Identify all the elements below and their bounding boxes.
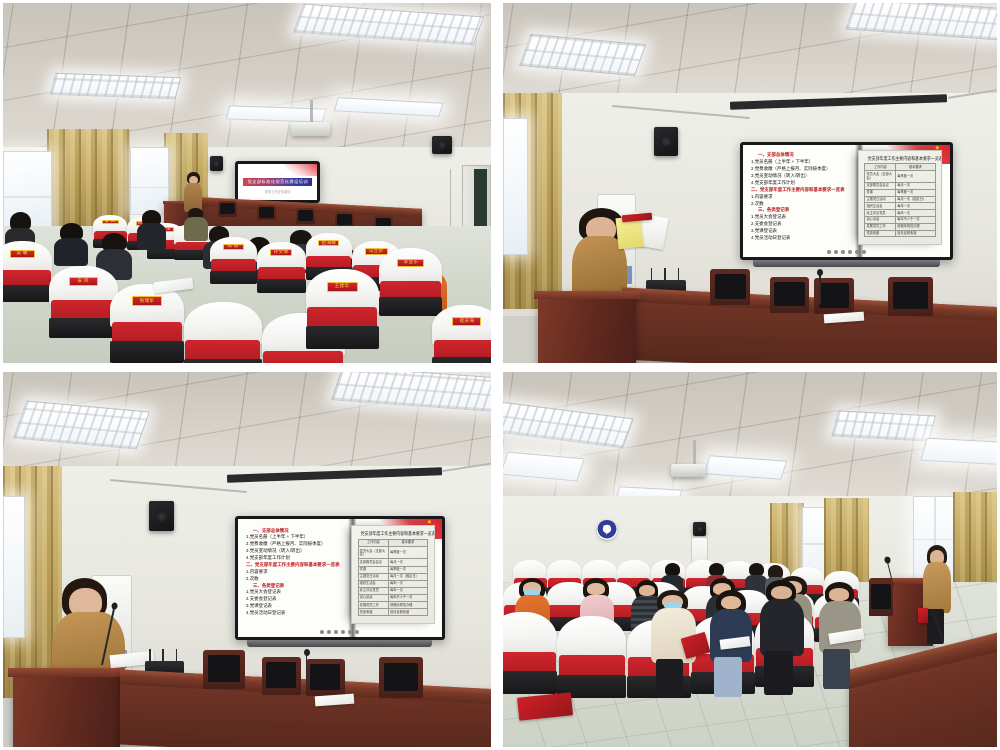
slide-line: 三、各类登记表	[246, 583, 345, 589]
seat-nametag: 安 风	[69, 277, 98, 286]
projector-mount-arm	[693, 440, 696, 466]
ceiling-projector	[671, 464, 706, 478]
interactive-display[interactable]: 一、支部总体情况 1.党员名册（上半年 + 下半年） 2.党费收缴（严格上报月、…	[740, 142, 952, 261]
seat-nametag: 王建华	[327, 282, 358, 292]
collage-panel-bottom-left: 一、支部总体情况 1.党员名册（上半年 + 下半年） 2.党费收缴（严格上报月、…	[0, 369, 497, 750]
slide-document-image: 党支部年度工作主要内容和基本要求一览表 工作内容 基本要求 党员大会（支部大会）…	[351, 525, 435, 624]
conference-chair	[888, 277, 932, 317]
slide-line: 一、支部总体情况	[246, 528, 345, 534]
auditorium-seat: 孙文博	[257, 242, 306, 292]
projector-mount-arm	[310, 100, 313, 122]
ceiling-projector	[291, 122, 330, 136]
slide-line: 二、党支部年度工作主要内容和基本要求一览表	[246, 562, 345, 568]
seat-nametag: 李亚东	[397, 259, 424, 267]
slide-line: 3.党课登记表	[246, 603, 345, 609]
toolbar-icon[interactable]	[341, 630, 345, 634]
seat-nametag: 张瑞军	[132, 296, 163, 306]
conference-chair	[770, 277, 810, 313]
conference-chair	[379, 657, 423, 698]
slide-line: 2.支委会登记表	[246, 596, 345, 602]
table-row: 党课每季度一次	[865, 189, 935, 196]
wall-speaker	[432, 136, 452, 154]
seat-nametag: 崔庆海	[452, 317, 481, 326]
auditorium-seat: 吴 敏	[3, 241, 52, 302]
gooseneck-microphone	[819, 273, 820, 305]
photo-conference-room-rear: 党支部标准化规范化建设培训 党务工作业务培训	[3, 3, 491, 363]
auditorium-seat	[557, 616, 626, 699]
slide-line: 2.次数	[751, 201, 851, 207]
slide-outline: 一、支部总体情况 1.党员名册（上半年 + 下半年） 2.党费收缴（严格上报月、…	[751, 152, 854, 240]
interactive-display[interactable]: 一、支部总体情况 1.党员名册（上半年 + 下半年） 2.党费收缴（严格上报月、…	[235, 516, 445, 640]
wall-speaker	[210, 156, 223, 171]
document-title: 党支部年度工作主要内容和基本要求一览表	[360, 531, 425, 537]
table-row: 支部委员会会议每月一次	[358, 559, 427, 566]
wall-speaker	[149, 501, 173, 531]
conference-chair	[306, 659, 345, 697]
toolbar-icon[interactable]	[348, 630, 352, 634]
display-screen-surface: 一、支部总体情况 1.党员名册（上半年 + 下半年） 2.党费收缴（严格上报月、…	[238, 519, 442, 637]
auditorium-seat	[184, 302, 262, 363]
institution-emblem	[597, 520, 617, 540]
auditorium-seat: 崔庆海	[432, 305, 491, 363]
toolbar-icon[interactable]	[855, 250, 859, 254]
toolbar-icon[interactable]	[327, 630, 331, 634]
lectern	[538, 291, 637, 363]
document-table: 工作内容 基本要求 党员大会（支部大会）每季度一次 支部委员会会议每月一次 党课…	[358, 539, 428, 617]
table-header-cell: 工作内容	[865, 164, 896, 171]
auditorium-seat: 王建华	[306, 269, 379, 348]
table-row: 党费收缴按月足额收缴	[358, 609, 427, 616]
photo-presenter-at-podium: 一、支部总体情况 1.党员名册（上半年 + 下半年） 2.党费收缴（严格上报月、…	[3, 372, 491, 747]
table-header-cell: 基本要求	[896, 164, 935, 171]
toolbar-icon[interactable]	[848, 250, 852, 254]
table-row: 谈心谈话每年不少于一次	[358, 595, 427, 602]
conference-chair	[257, 205, 277, 221]
wall-speaker	[693, 522, 706, 536]
slide-line: 4.党支部年度工作计划	[751, 180, 851, 186]
collage-panel-top-left: 党支部标准化规范化建设培训 党务工作业务培训	[0, 0, 497, 369]
gooseneck-microphone	[306, 653, 307, 687]
seat-nametag: 吴 敏	[10, 250, 36, 258]
table-header-cell: 工作内容	[358, 539, 388, 546]
conference-chair	[262, 657, 301, 695]
lectern	[13, 668, 120, 747]
conference-chair	[296, 208, 316, 224]
table-row: 主题党日活动每月一次（固定日）	[865, 196, 935, 203]
seat-nametag: 孙文博	[270, 249, 292, 256]
table-row: 主题党日活动每月一次（固定日）	[358, 573, 427, 580]
content-slide: 一、支部总体情况 1.党员名册（上半年 + 下半年） 2.党费收缴（严格上报月、…	[743, 145, 949, 258]
slide-line: 3.党课登记表	[751, 228, 851, 234]
photo-presenter-holding-booklet: 一、支部总体情况 1.党员名册（上半年 + 下半年） 2.党费收缴（严格上报月、…	[503, 3, 997, 363]
seat-nametag: 安 风	[102, 220, 118, 225]
slide-line: 4.党支部年度工作计划	[246, 555, 345, 561]
interactive-display[interactable]: 党支部标准化规范化建设培训 党务工作业务培训	[235, 161, 320, 202]
slide-line: 1.党员大会登记表	[751, 214, 851, 220]
papers-on-table	[315, 693, 355, 705]
slide-line: 4.党员活动日登记表	[751, 235, 851, 241]
slide-subtitle: 党务工作业务培训	[238, 189, 317, 194]
content-slide: 一、支部总体情况 1.党员名册（上半年 + 下半年） 2.党费收缴（严格上报月、…	[238, 519, 442, 637]
display-toolbar[interactable]	[303, 629, 376, 635]
conference-chair	[203, 650, 244, 689]
slide-line: 2.次数	[246, 576, 345, 582]
table-row: 支部委员会会议每月一次	[865, 183, 935, 190]
table-row: 党员大会（支部大会）每季度一次	[358, 546, 427, 559]
ceiling-light-panel	[920, 437, 997, 464]
toolbar-icon[interactable]	[827, 250, 831, 254]
slide-line: 2.支委会登记表	[751, 221, 851, 227]
slide-title-band: 党支部标准化规范化建设培训	[243, 178, 313, 186]
table-row: 谈心谈话每年不少于一次	[865, 217, 935, 224]
table-row: 党员大会（支部大会）每季度一次	[865, 171, 935, 183]
slide-line: 1.党员名册（上半年 + 下半年）	[246, 534, 345, 540]
display-stand	[247, 640, 432, 647]
photo-collage: 党支部标准化规范化建设培训 党务工作业务培训	[0, 0, 1000, 750]
document-title: 党支部年度工作主要内容和基本要求一览表	[867, 156, 932, 162]
table-header-cell: 基本要求	[389, 539, 428, 546]
table-row: 党课每季度一次	[358, 566, 427, 573]
conference-chair	[218, 201, 238, 217]
table-row: 发展党员工作按程序规范办理	[865, 223, 935, 230]
wall-speaker	[654, 127, 679, 156]
table-row: 发展党员工作按程序规范办理	[358, 602, 427, 609]
auditorium-seat	[503, 612, 557, 695]
speaker-body	[923, 562, 951, 613]
table-row: 民主评议党员每年一次	[358, 587, 427, 594]
auditorium-seat: 安 风	[49, 266, 117, 338]
slide-line: 1.党员大会登记表	[246, 589, 345, 595]
display-screen-surface: 一、支部总体情况 1.党员名册（上半年 + 下半年） 2.党费收缴（严格上报月、…	[743, 145, 949, 258]
slide-line: 3.党员变动情况（转入/转出）	[246, 548, 345, 554]
slide-line: 4.党员活动日登记表	[246, 610, 345, 616]
toolbar-icon[interactable]	[862, 250, 866, 254]
slide-document-image: 党支部年度工作主要内容和基本要求一览表 工作内容 基本要求 党员大会（支部大会）…	[858, 150, 943, 245]
window	[503, 118, 528, 255]
collage-panel-top-right: 一、支部总体情况 1.党员名册（上半年 + 下半年） 2.党费收缴（严格上报月、…	[497, 0, 1000, 369]
toolbar-icon[interactable]	[834, 250, 838, 254]
document-table: 工作内容 基本要求 党员大会（支部大会）每季度一次 支部委员会会议每月一次 党课…	[864, 163, 935, 237]
toolbar-icon[interactable]	[355, 630, 359, 634]
presenter	[184, 172, 204, 212]
slide-line: 3.党员变动情况（转入/转出）	[751, 173, 851, 179]
table-row: 民主评议党员每年一次	[865, 210, 935, 217]
slide-headline: 党支部标准化规范化建设培训	[247, 179, 307, 185]
table-row: 组织生活会每年一次	[865, 203, 935, 210]
slide-line: 1.内容要求	[751, 194, 851, 200]
attendee	[54, 223, 88, 266]
seat-nametag: 陈 静	[223, 244, 244, 251]
slide-line: 三、各类登记表	[751, 207, 851, 213]
slide-line: 2.党费收缴（严格上报月、实际按季度）	[246, 541, 345, 547]
slide-outline: 一、支部总体情况 1.党员名册（上半年 + 下半年） 2.党费收缴（严格上报月、…	[246, 528, 348, 616]
slide-line: 2.党费收缴（严格上报月、实际按季度）	[751, 166, 851, 172]
table-row: 党费收缴按月足额收缴	[865, 230, 935, 237]
window	[3, 496, 25, 639]
ceiling-light-panel	[831, 411, 936, 442]
toolbar-icon[interactable]	[334, 630, 338, 634]
conference-chair	[710, 269, 750, 305]
attendee	[137, 210, 166, 250]
slide-line: 二、党支部年度工作主要内容和基本要求一览表	[751, 187, 851, 193]
table-row: 组织生活会每年一次	[358, 580, 427, 587]
display-toolbar[interactable]	[809, 250, 883, 256]
slide-line: 1.内容要求	[246, 569, 345, 575]
title-slide: 党支部标准化规范化建设培训 党务工作业务培训	[238, 164, 317, 199]
display-screen-surface: 党支部标准化规范化建设培训 党务工作业务培训	[238, 164, 317, 199]
photo-auditorium-audience	[503, 372, 997, 747]
toolbar-icon[interactable]	[841, 250, 845, 254]
side-chair	[869, 578, 894, 616]
slide-line: 一、支部总体情况	[751, 152, 851, 158]
auditorium-seat: 张瑞军	[110, 284, 183, 363]
seat-nametag: 赵海峰	[318, 240, 339, 247]
display-stand	[753, 260, 940, 267]
attendee	[760, 580, 804, 693]
auditorium-seat: 陈 静	[210, 237, 256, 284]
slide-line: 1.党员名册（上半年 + 下半年）	[751, 159, 851, 165]
red-book	[918, 608, 928, 623]
slide-decoration	[285, 164, 317, 176]
collage-panel-bottom-right	[497, 369, 1000, 750]
ceiling-light-panel	[49, 73, 181, 99]
toolbar-icon[interactable]	[320, 630, 324, 634]
